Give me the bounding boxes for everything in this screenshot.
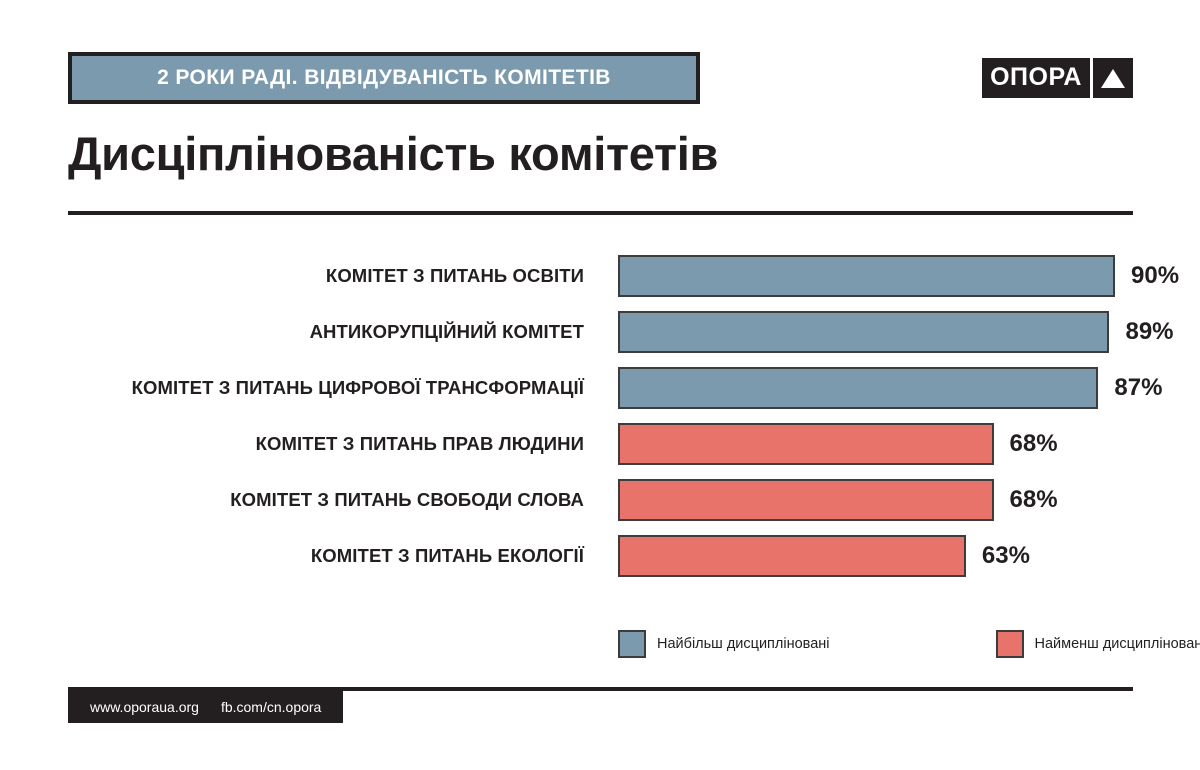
bar-category-label: КОМІТЕТ З ПИТАНЬ ЦИФРОВОЇ ТРАНСФОРМАЦІЇ — [62, 377, 602, 399]
bar-wrapper: 87% — [618, 367, 1162, 409]
legend-label: Найменш дисципліновані — [1035, 636, 1200, 652]
bar — [618, 535, 966, 577]
bar — [618, 423, 994, 465]
bar-wrapper: 89% — [618, 311, 1174, 353]
bar-row: КОМІТЕТ З ПИТАНЬ СВОБОДИ СЛОВА68% — [0, 472, 1200, 528]
footer-link[interactable]: www.oporaua.org — [90, 699, 199, 715]
bar-wrapper: 68% — [618, 423, 1058, 465]
bar-wrapper: 90% — [618, 255, 1179, 297]
legend-swatch — [618, 630, 646, 658]
legend-item: Найбільш дисципліновані — [618, 630, 830, 658]
bar-row: АНТИКОРУПЦІЙНИЙ КОМІТЕТ89% — [0, 304, 1200, 360]
bar-category-label: АНТИКОРУПЦІЙНИЙ КОМІТЕТ — [62, 321, 602, 343]
footer-link[interactable]: fb.com/cn.opora — [221, 699, 321, 715]
bar-value-label: 90% — [1131, 262, 1179, 290]
triangle-glyph — [1101, 69, 1125, 88]
logo-wordmark: ОПОРА — [982, 58, 1090, 98]
bar-value-label: 68% — [1010, 486, 1058, 514]
bar-row: КОМІТЕТ З ПИТАНЬ ПРАВ ЛЮДИНИ68% — [0, 416, 1200, 472]
bar-wrapper: 68% — [618, 479, 1058, 521]
bar-chart: КОМІТЕТ З ПИТАНЬ ОСВІТИ90%АНТИКОРУПЦІЙНИ… — [0, 248, 1200, 584]
bar-value-label: 68% — [1010, 430, 1058, 458]
legend-item: Найменш дисципліновані — [996, 630, 1200, 658]
infographic-page: 2 РОКИ РАДІ. ВІДВІДУВАНІСТЬ КОМІТЕТІВ ОП… — [0, 0, 1200, 770]
legend-swatch — [996, 630, 1024, 658]
bar-value-label: 63% — [982, 542, 1030, 570]
bar-value-label: 87% — [1114, 374, 1162, 402]
legend-label: Найбільш дисципліновані — [657, 636, 830, 652]
bar-value-label: 89% — [1125, 318, 1173, 346]
bar — [618, 311, 1109, 353]
header-divider — [68, 211, 1133, 215]
opora-logo: ОПОРА — [982, 58, 1133, 98]
kicker-banner: 2 РОКИ РАДІ. ВІДВІДУВАНІСТЬ КОМІТЕТІВ — [68, 52, 700, 104]
bar-category-label: КОМІТЕТ З ПИТАНЬ ПРАВ ЛЮДИНИ — [62, 433, 602, 455]
bar-category-label: КОМІТЕТ З ПИТАНЬ ОСВІТИ — [62, 265, 602, 287]
bar-wrapper: 63% — [618, 535, 1030, 577]
bar — [618, 255, 1115, 297]
bar-row: КОМІТЕТ З ПИТАНЬ ЦИФРОВОЇ ТРАНСФОРМАЦІЇ8… — [0, 360, 1200, 416]
triangle-icon — [1093, 58, 1133, 98]
bar — [618, 479, 994, 521]
bar-row: КОМІТЕТ З ПИТАНЬ ОСВІТИ90% — [0, 248, 1200, 304]
footer-bar: www.oporaua.orgfb.com/cn.opora — [68, 691, 343, 723]
bar-row: КОМІТЕТ З ПИТАНЬ ЕКОЛОГІЇ63% — [0, 528, 1200, 584]
bar-category-label: КОМІТЕТ З ПИТАНЬ СВОБОДИ СЛОВА — [62, 489, 602, 511]
page-title: Дисціплінованість комітетів — [68, 126, 718, 181]
kicker-text: 2 РОКИ РАДІ. ВІДВІДУВАНІСТЬ КОМІТЕТІВ — [157, 66, 611, 90]
chart-legend: Найбільш дисциплінованіНайменш дисциплін… — [618, 630, 1200, 658]
bar-category-label: КОМІТЕТ З ПИТАНЬ ЕКОЛОГІЇ — [62, 545, 602, 567]
bar — [618, 367, 1098, 409]
